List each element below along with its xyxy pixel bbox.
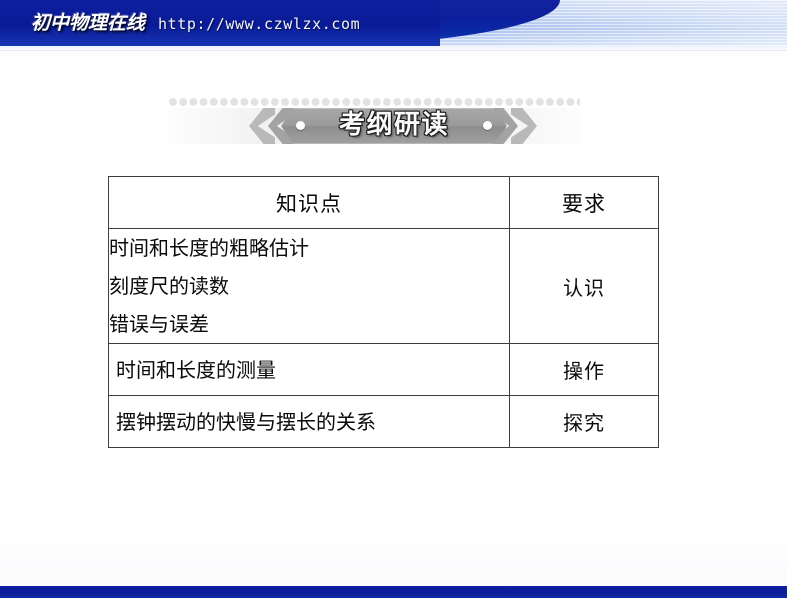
banner-hairline xyxy=(0,50,787,51)
syllabus-table: 知识点 要求 时间和长度的粗略估计 刻度尺的读数 错误与误差 认识 时间和长度的… xyxy=(108,176,659,448)
site-url-text[interactable]: http://www.czwlzx.com xyxy=(158,15,360,33)
chevron-right-outer-icon xyxy=(511,108,537,144)
section-title-text: 考纲研读 xyxy=(281,108,507,144)
topic-line: 刻度尺的读数 xyxy=(109,267,509,305)
table-row[interactable]: 时间和长度的粗略估计 刻度尺的读数 错误与误差 认识 xyxy=(109,229,659,344)
footer-bar xyxy=(0,586,787,598)
topic-line: 时间和长度的测量 xyxy=(116,360,509,380)
column-header-topic: 知识点 xyxy=(109,177,510,229)
requirement-cell: 探究 xyxy=(510,396,659,448)
banner-underline xyxy=(0,46,787,52)
site-banner: 初中物理在线 http://www.czwlzx.com xyxy=(0,0,787,52)
topic-line: 时间和长度的粗略估计 xyxy=(109,229,509,267)
topic-line: 摆钟摆动的快慢与摆长的关系 xyxy=(116,412,509,432)
table-row[interactable]: 摆钟摆动的快慢与摆长的关系 探究 xyxy=(109,396,659,448)
requirement-cell: 操作 xyxy=(510,344,659,396)
dotted-rule xyxy=(168,97,580,107)
table-row[interactable]: 时间和长度的测量 操作 xyxy=(109,344,659,396)
site-logo-text: 初中物理在线 xyxy=(31,12,145,34)
topic-line: 错误与误差 xyxy=(109,305,509,343)
syllabus-table-container: 知识点 要求 时间和长度的粗略估计 刻度尺的读数 错误与误差 认识 时间和长度的… xyxy=(108,176,658,448)
column-header-requirement: 要求 xyxy=(510,177,659,229)
requirement-cell: 认识 xyxy=(510,229,659,344)
table-header-row: 知识点 要求 xyxy=(109,177,659,229)
topic-cell: 时间和长度的粗略估计 刻度尺的读数 错误与误差 xyxy=(109,229,510,344)
section-title-banner: 考纲研读 xyxy=(0,96,787,156)
topic-cell: 摆钟摆动的快慢与摆长的关系 xyxy=(109,396,510,448)
topic-cell: 时间和长度的测量 xyxy=(109,344,510,396)
